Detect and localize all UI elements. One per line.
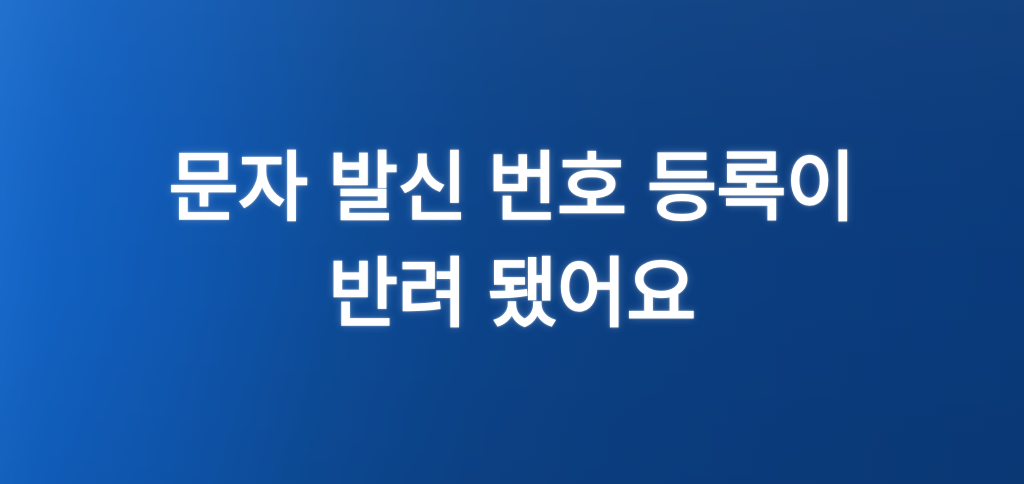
notification-banner: 문자 발신 번호 등록이 반려 됐어요: [0, 0, 1024, 484]
headline-line-1: 문자 발신 번호 등록이: [169, 136, 856, 242]
headline-line-2: 반려 됐어요: [328, 242, 696, 348]
headline-block: 문자 발신 번호 등록이 반려 됐어요: [0, 136, 1024, 348]
